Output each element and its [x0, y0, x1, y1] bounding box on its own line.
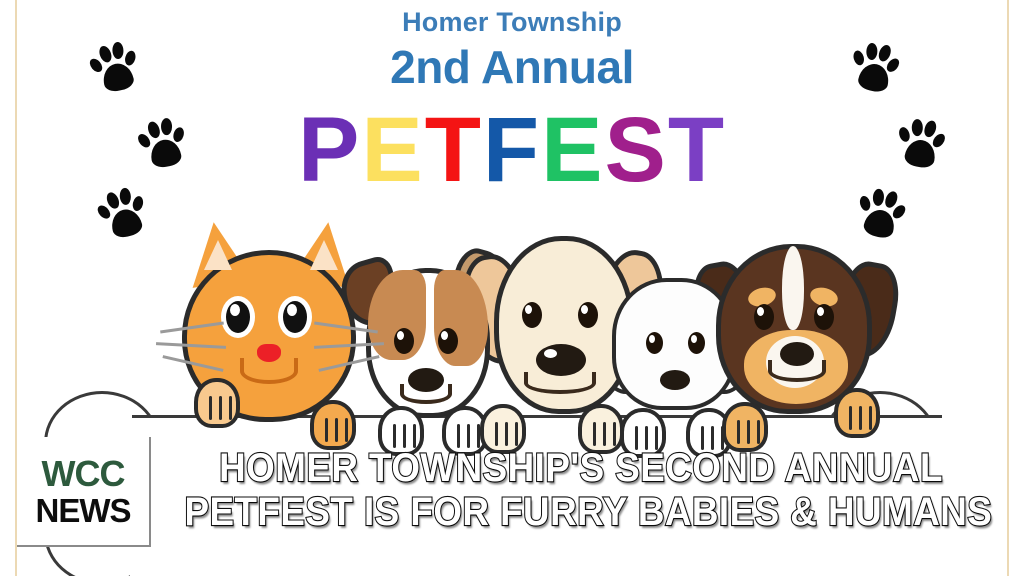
- maltese-eye-right: [688, 332, 705, 354]
- bernese-eye-right: [814, 304, 834, 330]
- petfest-letter-2: T: [425, 104, 483, 196]
- jack-paw-left: [378, 406, 424, 456]
- petfest-letter-6: T: [668, 104, 726, 196]
- labrador-eye-right: [578, 302, 598, 328]
- cat-eye-left: [221, 296, 255, 338]
- maltese-nose: [660, 370, 690, 390]
- bernese-blaze: [782, 246, 804, 330]
- paw-print-icon: [894, 114, 948, 173]
- petfest-letter-1: E: [361, 104, 424, 196]
- petfest-letter-0: P: [298, 104, 361, 196]
- cat-mouth: [240, 358, 298, 384]
- petfest-letter-3: F: [483, 104, 541, 196]
- cat-paw-right: [310, 400, 356, 450]
- jack-eye-left: [394, 328, 414, 354]
- maltese-eye-left: [646, 332, 663, 354]
- bernese-eye-left: [754, 304, 774, 330]
- cat-inner-ear-right: [310, 240, 338, 270]
- animal-row: [0, 210, 1024, 460]
- cat-inner-ear-left: [204, 240, 232, 270]
- station-logo: WCC NEWS: [17, 437, 151, 547]
- broadcast-frame: Homer Township 2nd Annual PETFEST: [0, 0, 1024, 576]
- station-logo-news-label: NEWS: [36, 494, 131, 527]
- petfest-letter-4: E: [541, 104, 604, 196]
- paw-print-icon: [136, 114, 190, 173]
- bernese-mouth: [768, 360, 826, 382]
- labrador-paw-left: [480, 404, 526, 454]
- cat-paw-left: [194, 378, 240, 428]
- labrador-paw-right: [578, 404, 624, 454]
- bernese-paw-right: [834, 388, 880, 438]
- station-logo-call-letters: WCC: [42, 456, 125, 492]
- jack-eye-right: [438, 328, 458, 354]
- bernese-paw-left: [722, 402, 768, 452]
- labrador-mouth: [524, 372, 596, 394]
- labrador-eye-left: [522, 302, 542, 328]
- jack-mouth: [400, 384, 452, 404]
- maltese-paw-left: [620, 408, 666, 458]
- cat-eye-right: [278, 296, 312, 338]
- flyer-kicker: Homer Township: [0, 7, 1024, 38]
- petfest-letter-5: S: [604, 104, 667, 196]
